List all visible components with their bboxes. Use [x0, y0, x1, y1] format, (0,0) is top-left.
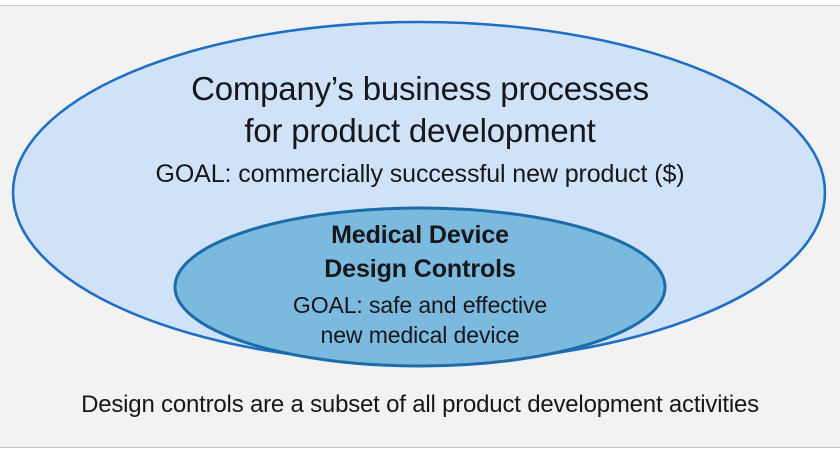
outer-set-title: Company’s business processes for product… [70, 68, 770, 152]
diagram-caption-text: Design controls are a subset of all prod… [20, 390, 820, 420]
inner-set-goal: GOAL: safe and effective new medical dev… [195, 290, 645, 350]
inner-set-title: Medical Device Design Controls [195, 218, 645, 286]
frame-bottom-margin [0, 448, 840, 454]
diagram-canvas: Company’s business processes for product… [0, 0, 840, 454]
inner-set-goal-line1: GOAL: safe and effective [195, 290, 645, 320]
outer-set-title-line1: Company’s business processes [70, 68, 770, 110]
outer-set-goal: GOAL: commercially successful new produc… [70, 159, 770, 189]
outer-set-goal-text: GOAL: commercially successful new produc… [70, 159, 770, 189]
inner-set-title-line1: Medical Device [195, 218, 645, 252]
inner-set-title-line2: Design Controls [195, 252, 645, 286]
outer-set-title-line2: for product development [70, 110, 770, 152]
inner-set-goal-line2: new medical device [195, 320, 645, 350]
diagram-caption: Design controls are a subset of all prod… [20, 390, 820, 420]
